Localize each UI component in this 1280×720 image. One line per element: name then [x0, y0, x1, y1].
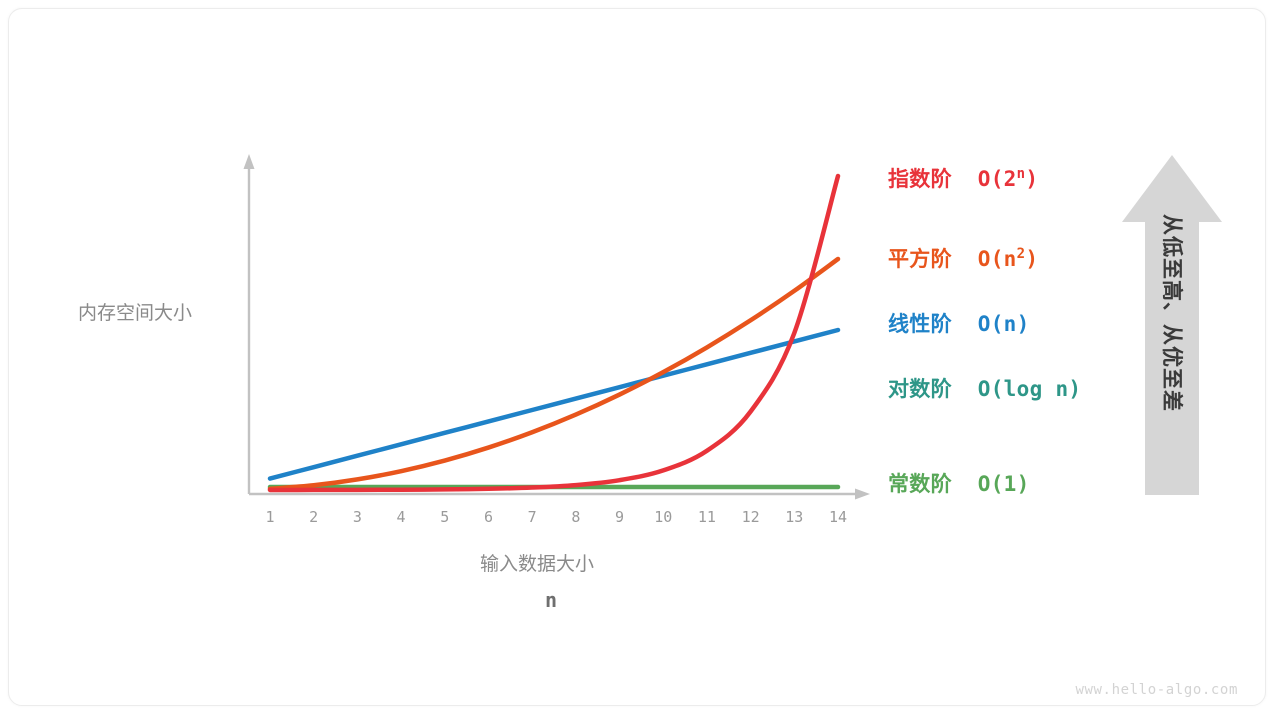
x-tick-label: 11: [692, 508, 722, 526]
legend-spacer: [952, 167, 978, 191]
x-axis-variable: n: [545, 588, 557, 612]
legend-item-notation: O(1): [978, 472, 1030, 496]
legend-notation-exponent: 2: [1017, 246, 1026, 262]
legend-item: 对数阶 O(log n): [888, 373, 1081, 403]
legend-item-notation: O(log n): [978, 377, 1082, 401]
legend-item-notation: O(n): [978, 312, 1030, 336]
legend-notation-exponent: n: [1017, 166, 1026, 182]
legend-item: 平方阶 O(n2): [888, 243, 1038, 273]
y-axis-label: 内存空间大小: [78, 298, 192, 325]
legend-item: 线性阶 O(n): [888, 308, 1030, 338]
curve-exponential: [270, 176, 838, 490]
x-tick-label: 5: [430, 508, 460, 526]
x-tick-label: 13: [779, 508, 809, 526]
x-tick-label: 14: [823, 508, 853, 526]
legend-spacer: [952, 247, 978, 271]
x-tick-label: 8: [561, 508, 591, 526]
legend-item: 常数阶 O(1): [888, 468, 1030, 498]
x-tick-label: 6: [473, 508, 503, 526]
plot-area: [0, 0, 1280, 720]
legend-spacer: [952, 377, 978, 401]
rank-arrow-label: 从低至高、从优至差: [1158, 214, 1188, 484]
legend-item-name: 对数阶: [888, 377, 952, 401]
x-tick-label: 4: [386, 508, 416, 526]
legend-spacer: [952, 312, 978, 336]
x-tick-label: 12: [736, 508, 766, 526]
legend-item: 指数阶 O(2n): [888, 163, 1038, 193]
x-tick-label: 1: [255, 508, 285, 526]
x-tick-label: 3: [342, 508, 372, 526]
legend-item-name: 指数阶: [888, 167, 952, 191]
legend-item-name: 常数阶: [888, 472, 952, 496]
x-tick-label: 9: [605, 508, 635, 526]
series-paths: [270, 176, 838, 490]
legend-item-notation: O(n2): [978, 247, 1039, 271]
x-tick-label: 10: [648, 508, 678, 526]
x-tick-label: 7: [517, 508, 547, 526]
y-axis: [244, 154, 255, 494]
legend-spacer: [952, 472, 978, 496]
chart-canvas: 内存空间大小 输入数据大小 n 1234567891011121314 指数阶 …: [0, 0, 1280, 720]
legend-item-name: 线性阶: [888, 312, 952, 336]
legend-item-name: 平方阶: [888, 247, 952, 271]
watermark: www.hello-algo.com: [1075, 682, 1238, 698]
legend-item-notation: O(2n): [978, 167, 1039, 191]
x-axis-label: 输入数据大小: [480, 549, 594, 576]
curve-linear: [270, 330, 838, 479]
x-tick-label: 2: [299, 508, 329, 526]
